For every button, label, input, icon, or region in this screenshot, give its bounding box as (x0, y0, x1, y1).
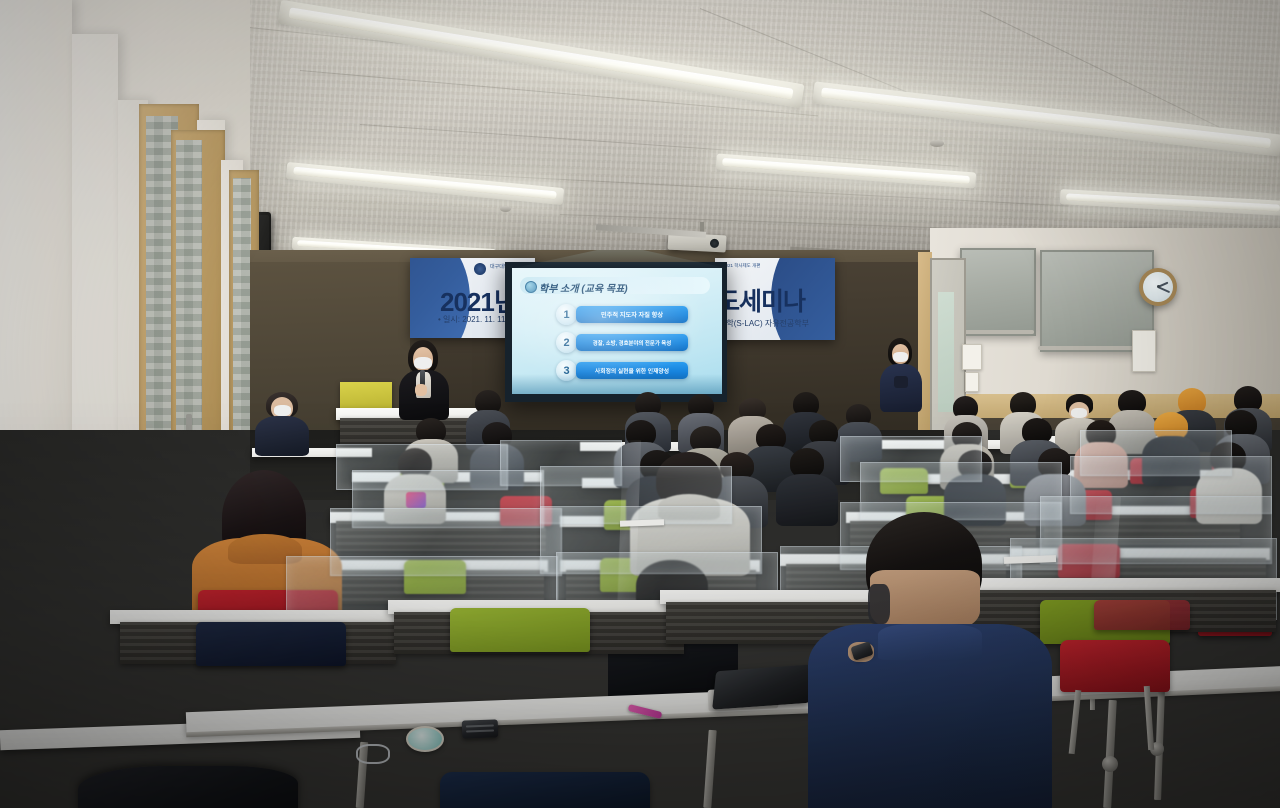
desk-caster (1102, 756, 1118, 772)
wall-notice (965, 372, 979, 392)
presenter-hand (415, 384, 427, 396)
teal-cup[interactable] (406, 726, 444, 752)
event-banner-right: 2021 학사제도 개편 도세미나 대학(S-LAC) 자유전공학부 (715, 258, 835, 340)
projected-slide: 학부 소개 (교육 목표) 1 민주적 지도자 자질 향상 2 경찰, 소방, … (512, 268, 722, 394)
clock-face (1143, 272, 1173, 302)
wall-notice (1132, 330, 1156, 372)
chair-red[interactable] (1060, 640, 1170, 692)
banner-date: • 일시: 2021. 11. 11 (438, 314, 506, 325)
chair-navy[interactable] (440, 772, 650, 808)
slide-title: 학부 소개 (교육 목표) (539, 280, 628, 295)
clock-center-pin (1157, 285, 1160, 288)
phone-screen-band (466, 730, 494, 733)
black-coat (78, 766, 298, 808)
staff-member (878, 338, 924, 412)
phone-screen-band (466, 725, 494, 728)
shirt-collar (878, 624, 982, 660)
chair-navy[interactable] (196, 622, 346, 666)
presenter-face-mask (414, 357, 432, 369)
projector-lens-icon (710, 239, 719, 248)
whiteboard (960, 248, 1036, 336)
presenter (396, 340, 452, 418)
slide-number-2: 2 (556, 332, 577, 353)
body (255, 416, 309, 456)
chair-green[interactable] (450, 608, 590, 652)
slide-item-1: 민주적 지도자 자질 향상 (576, 306, 688, 323)
staff-face-mask (893, 352, 908, 362)
door-window (938, 292, 954, 412)
banner-small-logo: 2021 학사제도 개편 (723, 263, 760, 269)
face-mask (274, 405, 291, 416)
banner-org: 대학(S-LAC) 자유전공학부 (719, 318, 809, 329)
smoke-detector-icon (930, 140, 944, 147)
tablet-case[interactable] (712, 664, 814, 709)
slide-number-1: 1 (556, 304, 577, 325)
wall-clock (1139, 268, 1177, 306)
smoke-detector-icon (500, 206, 511, 212)
wall-notice (962, 344, 982, 370)
slide-emblem-icon (525, 281, 537, 293)
slide-bottom-shade (512, 374, 722, 394)
staff-held-item (894, 376, 908, 388)
board-tray (958, 330, 1034, 334)
university-emblem-icon (474, 263, 486, 275)
smartphone[interactable] (462, 719, 499, 738)
slide-item-2: 경찰, 소방, 경호분야의 전문가 육성 (576, 334, 688, 351)
staff-body (880, 364, 922, 412)
foreground-attendee (808, 512, 1052, 808)
glass-block-window (233, 178, 251, 458)
face-mask (1071, 408, 1087, 418)
audience-member (252, 392, 312, 454)
chair-red[interactable] (1094, 600, 1190, 630)
banner-title-right: 도세미나 (717, 282, 805, 318)
lecture-hall-photo: 대구대학교 2021년 • 일시: 2021. 11. 11 2021 학사제도… (0, 0, 1280, 808)
eyeglasses[interactable] (356, 744, 390, 764)
mask-strap (868, 584, 890, 624)
